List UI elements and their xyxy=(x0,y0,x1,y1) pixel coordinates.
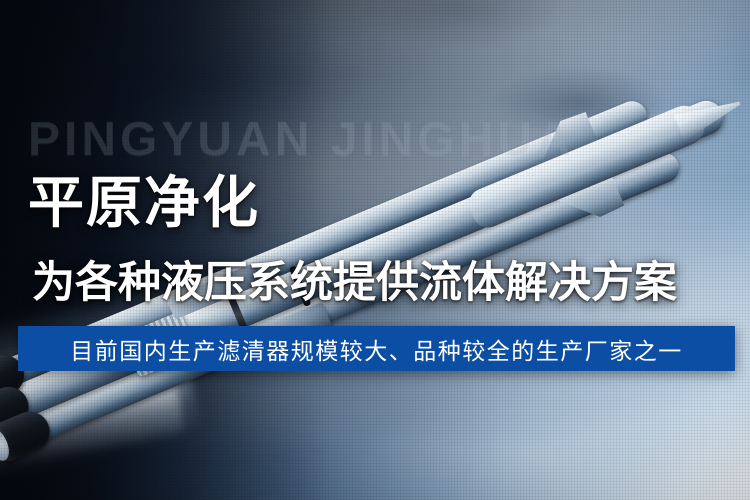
hero-banner: PINGYUAN JINGHUA 平原净化 为各种液压系统提供流体解决方案 目前… xyxy=(0,0,750,500)
tagline-bar: 目前国内生产滤清器规模较大、品种较全的生产厂家之一 xyxy=(18,326,735,371)
banner-subtitle: 为各种液压系统提供流体解决方案 xyxy=(32,258,677,308)
rocket-scene xyxy=(0,0,750,500)
tagline-text: 目前国内生产滤清器规模较大、品种较全的生产厂家之一 xyxy=(70,332,683,366)
watermark-text: PINGYUAN JINGHUA xyxy=(28,112,750,167)
page-title: 平原净化 xyxy=(28,172,260,234)
